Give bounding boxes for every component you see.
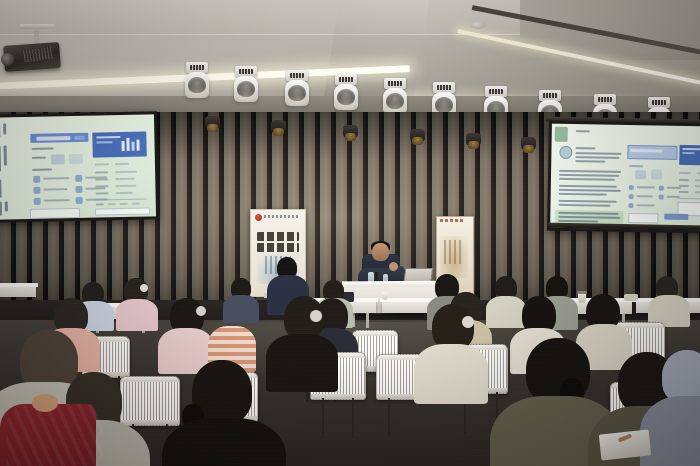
lecture-hall-photo [0,0,700,466]
wall-track-light [521,137,536,154]
paper-cup [382,292,388,300]
chair-leg [388,398,390,436]
banner-subtitle [264,215,300,218]
wall-track-light [205,116,220,133]
right-banner-artwork-detail [444,240,464,264]
ceiling-spotlight [233,66,259,104]
banner-title-line1 [257,232,299,241]
smoke-detector-icon [470,22,486,29]
table-edge [0,283,38,287]
banner-title-line2 [257,243,299,252]
wall-track-light [466,133,481,150]
presenter-hand [389,262,398,271]
audience-chair [120,376,178,424]
ceiling-spotlight [284,70,310,108]
presenter-head [372,243,389,261]
ceiling-spotlight [184,62,210,100]
audience-hand [32,394,58,412]
left-projection-screen[interactable] [0,111,159,222]
slide-callout-card [30,208,80,219]
notebook [624,294,638,301]
ceiling-spotlight [333,74,359,112]
slide-question-icon [559,146,572,159]
notebook [599,429,651,460]
wall-track-light [343,125,358,142]
ceiling-projector [4,44,62,78]
chair-leg [322,398,324,438]
cup-lid [577,291,587,294]
right-banner-header [440,219,464,222]
wall-track-light [410,129,425,146]
ceiling-spotlight [382,78,408,116]
right-projection-screen[interactable] [547,121,700,234]
slide-logo-badge [555,127,568,142]
slide-primary-button [664,214,688,220]
chair-leg [352,398,354,438]
table-leg [366,313,369,328]
wall-track-light [271,120,286,137]
sweater-knit-texture [6,404,102,466]
official-seal-icon [255,214,262,221]
